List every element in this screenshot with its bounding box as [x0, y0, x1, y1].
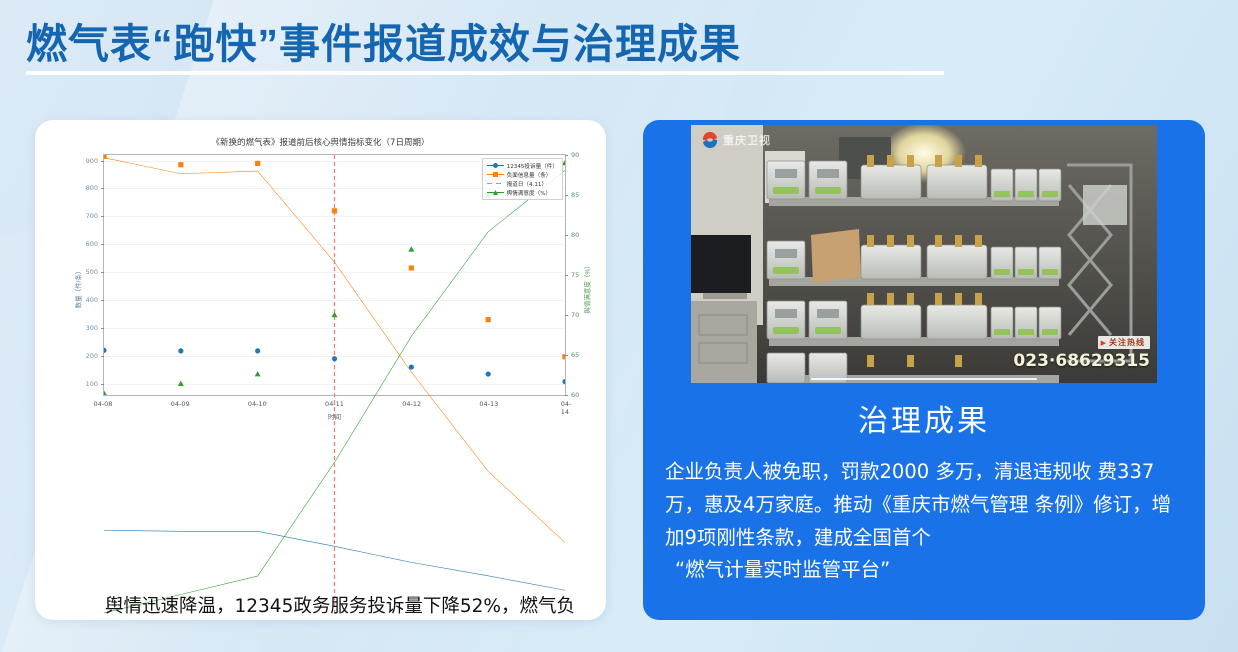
page-title: 燃气表“跑快”事件报道成效与治理成果	[26, 20, 1026, 68]
chart-y-tick-left: 400	[86, 296, 98, 304]
chart-y-tick-right: 60	[571, 391, 579, 399]
right-body-line-1: 企业负责人被免职，罚款2000 多万，清退违规收	[665, 460, 1091, 483]
chart-tick-mark	[565, 315, 568, 316]
chart-legend-item: 12345投诉量（件）	[487, 161, 558, 170]
chart-y-tick-right: 90	[571, 151, 579, 159]
chart-plot-shell: 数量（件/条） 舆情满意度（%） 10020030040050060070080…	[103, 154, 566, 422]
chart-x-tick: 04-08	[94, 400, 113, 408]
chart-title: 《新换的燃气表》报道前后核心舆情指标变化（7日周期）	[35, 136, 606, 148]
news-photo: 重庆卫视 ▶关注热线 023·68629315	[691, 125, 1157, 383]
legend-swatch-icon	[487, 162, 504, 170]
hotline-label-text: 关注热线	[1109, 338, 1145, 347]
left-content-card: 《新换的燃气表》报道前后核心舆情指标变化（7日周期） 数量（件/条） 舆情满意度…	[35, 120, 606, 620]
legend-label: 舆情满意度（%）	[507, 189, 551, 197]
chart-legend-item: 负面信息量（条）	[487, 170, 558, 179]
chart-y-tick-right: 85	[571, 191, 579, 199]
chart-x-tick: 04-09	[171, 400, 190, 408]
right-card-heading: 治理成果	[643, 396, 1205, 440]
chart-y-tick-left: 800	[86, 184, 98, 192]
chart-y-tick-right: 65	[571, 351, 579, 359]
chart-x-tick: 04-12	[402, 400, 421, 408]
video-progress-bar[interactable]	[811, 378, 1037, 380]
legend-label: 报道日（4.11）	[507, 180, 547, 188]
chart-y-tick-left: 200	[86, 352, 98, 360]
right-content-card: 重庆卫视 ▶关注热线 023·68629315 治理成果 企业负责人被免职，罚款…	[643, 120, 1205, 620]
title-underline-divider	[26, 71, 944, 75]
legend-swatch-icon	[487, 180, 504, 188]
chart-y-tick-left: 300	[86, 324, 98, 332]
chart-x-axis-label: 时间	[328, 411, 341, 421]
hotline-overlay: ▶关注热线 023·68629315	[1013, 332, 1150, 371]
tv-station-name: 重庆卫视	[723, 132, 771, 148]
right-body-line-4: “燃气计量实时监管平台”	[665, 554, 1185, 587]
chart-y-tick-left: 500	[86, 268, 98, 276]
chart-y-tick-right: 75	[571, 271, 579, 279]
left-card-caption: 舆情迅速降温，12345政务服务投诉量下降52%，燃气负面信息下降78.1%，有…	[105, 592, 575, 620]
chart-tick-mark	[565, 195, 568, 196]
hotline-number: 023·68629315	[1013, 351, 1150, 371]
legend-swatch-icon	[487, 171, 504, 179]
chart-x-tick: 04-13	[479, 400, 498, 408]
chart-y-tick-left: 900	[86, 157, 98, 165]
legend-swatch-icon	[487, 189, 504, 197]
chart-y-axis-label-left: 数量（件/条）	[72, 268, 82, 309]
chart-legend-item: 报道日（4.11）	[487, 179, 558, 188]
chart-legend-item: 舆情满意度（%）	[487, 188, 558, 197]
chart-legend: 12345投诉量（件） 负面信息量（条） 报道日（4.11） 舆情满意度（%）	[482, 158, 563, 200]
chongqing-tv-logo-icon: 重庆卫视	[700, 131, 771, 149]
chart-y-axis-label-right: 舆情满意度（%）	[581, 262, 591, 313]
chart-tick-mark	[565, 275, 568, 276]
chart-tick-mark	[565, 395, 568, 396]
chart-tick-mark	[565, 355, 568, 356]
legend-label: 12345投诉量（件）	[507, 162, 558, 170]
slide-title-block: 燃气表“跑快”事件报道成效与治理成果	[26, 20, 1026, 75]
hotline-label-badge: ▶关注热线	[1098, 336, 1150, 349]
chart-tick-mark	[565, 155, 568, 156]
legend-label: 负面信息量（条）	[507, 171, 552, 179]
chart-x-tick: 04-14	[561, 400, 572, 416]
chart-tick-mark	[565, 235, 568, 236]
play-triangle-icon: ▶	[1101, 340, 1107, 347]
sentiment-chart: 《新换的燃气表》报道前后核心舆情指标变化（7日周期） 数量（件/条） 舆情满意度…	[35, 128, 606, 458]
chart-plot-area: 1002003004005006007008009006065707580859…	[103, 154, 566, 396]
chart-y-tick-left: 700	[86, 212, 98, 220]
chart-y-tick-left: 100	[86, 380, 98, 388]
chart-x-tick: 04-11	[325, 400, 344, 408]
chart-x-tick: 04-10	[248, 400, 267, 408]
chart-y-tick-right: 70	[571, 311, 579, 319]
chart-y-tick-left: 600	[86, 240, 98, 248]
right-card-body: 企业负责人被免职，罚款2000 多万，清退违规收 费337万，惠及4万家庭。推动…	[665, 456, 1185, 587]
chart-y-tick-right: 80	[571, 231, 579, 239]
